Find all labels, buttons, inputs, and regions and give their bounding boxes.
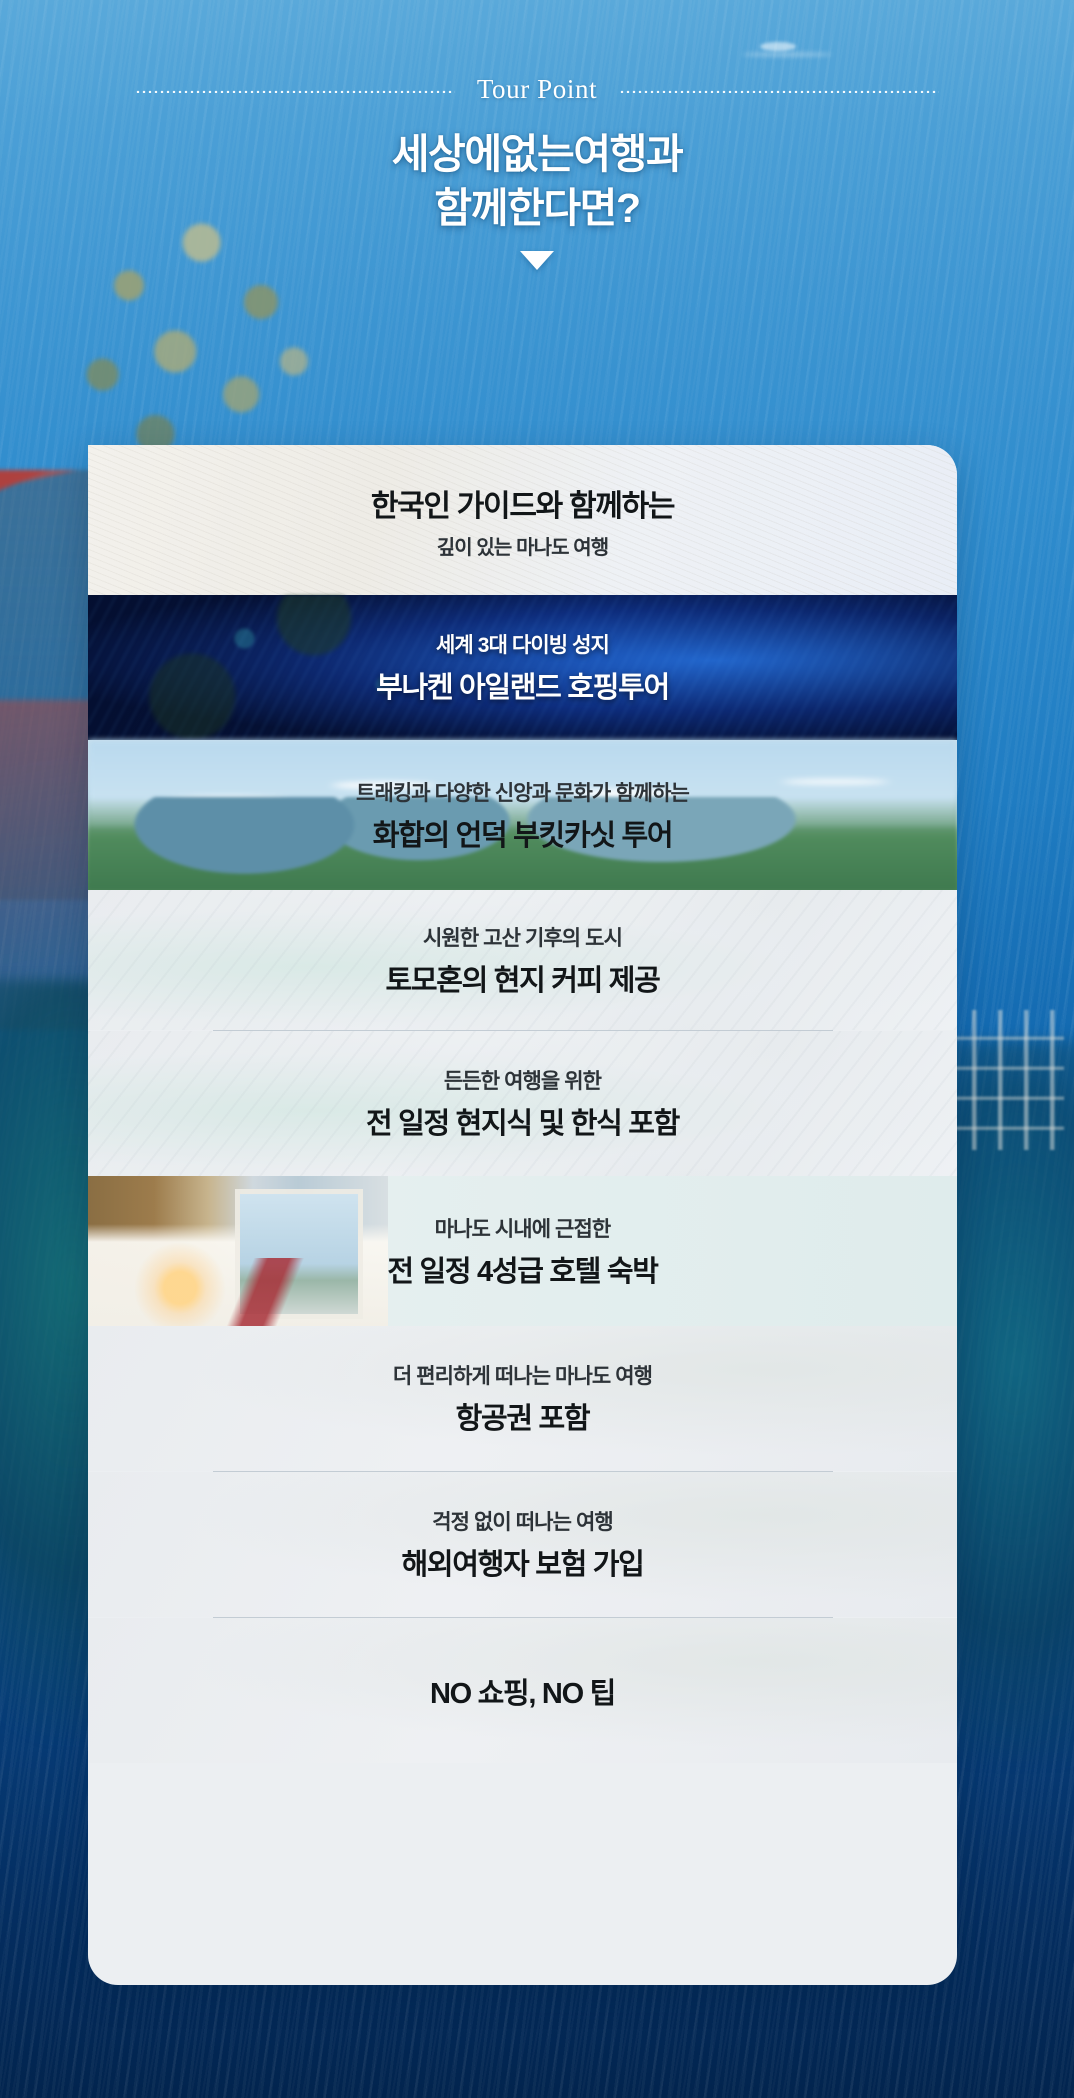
tour-point-title: 전 일정 4성급 호텔 숙박 — [387, 1248, 657, 1290]
tour-point-subtitle: 더 편리하게 떠나는 마나도 여행 — [393, 1360, 652, 1390]
hotel-room-photo — [88, 1176, 388, 1326]
tour-point-subtitle: 트래킹과 다양한 신앙과 문화가 함께하는 — [356, 777, 689, 807]
tour-point-item: 한국인 가이드와 함께하는깊이 있는 마나도 여행 — [88, 445, 957, 595]
tour-point-item: 마나도 시내에 근접한전 일정 4성급 호텔 숙박 — [88, 1176, 957, 1326]
tour-point-item: 세계 3대 다이빙 성지부나켄 아일랜드 호핑투어 — [88, 595, 957, 740]
tour-point-title: 항공권 포함 — [456, 1395, 590, 1437]
page-title: 세상에없는여행과 함께한다면? — [0, 127, 1074, 235]
tour-point-subtitle: 걱정 없이 떠나는 여행 — [432, 1506, 613, 1536]
tour-point-subtitle: 세계 3대 다이빙 성지 — [436, 629, 609, 659]
tour-point-item: 시원한 고산 기후의 도시토모혼의 현지 커피 제공 — [88, 890, 957, 1030]
eyebrow-row: Tour Point — [0, 0, 1074, 105]
eyebrow-label: Tour Point — [477, 74, 597, 105]
dotted-rule-right — [619, 87, 939, 93]
headline-line-1: 세상에없는여행과 — [0, 127, 1074, 181]
tour-point-title: NO 쇼핑, NO 팁 — [430, 1670, 615, 1712]
headline-line-2: 함께한다면? — [0, 181, 1074, 235]
tour-point-title: 전 일정 현지식 및 한식 포함 — [366, 1100, 679, 1142]
tour-point-item: 더 편리하게 떠나는 마나도 여행항공권 포함 — [88, 1326, 957, 1471]
tour-point-item: 걱정 없이 떠나는 여행해외여행자 보험 가입 — [88, 1472, 957, 1617]
tour-point-list: 한국인 가이드와 함께하는깊이 있는 마나도 여행세계 3대 다이빙 성지부나켄… — [88, 445, 957, 1985]
tour-point-title: 토모혼의 현지 커피 제공 — [385, 957, 659, 999]
tour-point-item: 든든한 여행을 위한전 일정 현지식 및 한식 포함 — [88, 1031, 957, 1176]
tour-point-subtitle: 마나도 시내에 근접한 — [435, 1213, 611, 1243]
tour-point-subtitle: 깊이 있는 마나도 여행 — [437, 531, 608, 560]
tour-point-subtitle: 든든한 여행을 위한 — [444, 1065, 601, 1095]
tour-point-title: 한국인 가이드와 함께하는 — [371, 481, 674, 525]
tour-point-title: 화합의 언덕 부킷카싯 투어 — [373, 812, 672, 854]
tour-point-subtitle: 시원한 고산 기후의 도시 — [423, 922, 622, 952]
chevron-down-arrow-icon — [520, 251, 554, 270]
tour-point-title: 부나켄 아일랜드 호핑투어 — [376, 664, 669, 706]
tour-point-item: NO 쇼핑, NO 팁 — [88, 1618, 957, 1763]
page-header: Tour Point 세상에없는여행과 함께한다면? — [0, 0, 1074, 270]
tour-point-title: 해외여행자 보험 가입 — [402, 1541, 644, 1583]
dotted-rule-left — [135, 87, 455, 93]
tour-point-item: 트래킹과 다양한 신앙과 문화가 함께하는화합의 언덕 부킷카싯 투어 — [88, 740, 957, 890]
